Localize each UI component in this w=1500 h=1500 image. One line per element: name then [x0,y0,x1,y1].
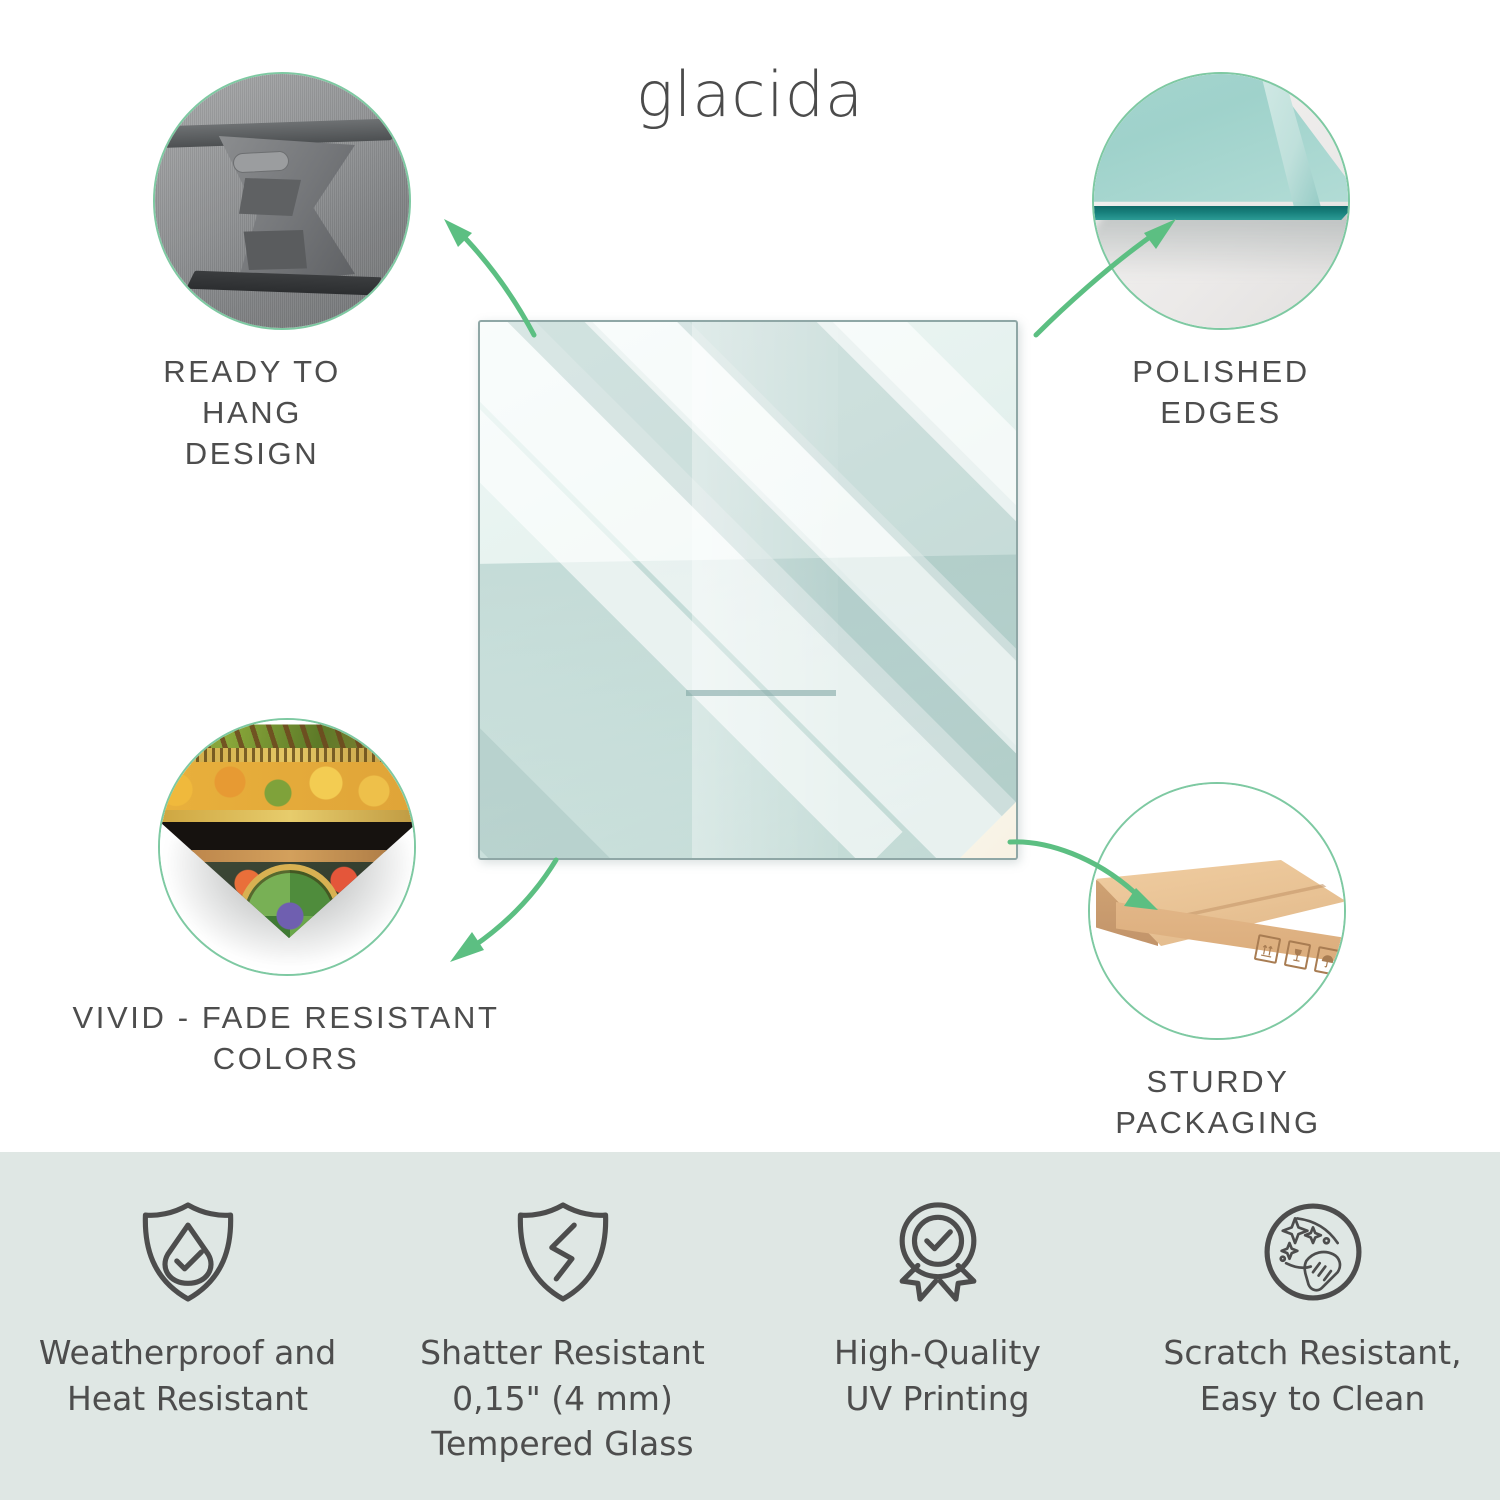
arrow-to-sturdy-packaging [1000,810,1180,940]
product-infographic: glacida READY TO HANG DESIGN POLISHED [0,0,1500,1500]
feature-label-polished-edges: POLISHED EDGES [1092,352,1350,434]
bar-label-shatter-resistant: Shatter Resistant 0,15" (4 mm) Tempered … [420,1330,705,1467]
bracket-slot [233,151,290,174]
artwork-background [160,720,414,974]
arrow-to-ready-to-hang [430,205,610,350]
bar-label-scratch-resistant: Scratch Resistant, Easy to Clean [1163,1330,1461,1421]
feature-label-vivid-colors: VIVID - FADE RESISTANT COLORS [66,998,506,1080]
bar-item-uv-printing: High-Quality UV Printing [768,1196,1108,1421]
arrow-to-polished-edges [1020,205,1200,350]
hanging-bracket-photo [153,72,411,330]
arrow-to-vivid-colors [438,850,618,980]
art-band-foliage-lines [160,718,416,752]
bracket-cutout-lower [241,230,307,270]
bar-label-weatherproof: Weatherproof and Heat Resistant [39,1330,336,1421]
feature-ready-to-hang: READY TO HANG DESIGN [153,72,411,475]
glass-frame-reflection [686,690,836,696]
this-way-up-icon [1254,934,1282,964]
art-band-amber-stones [160,762,416,812]
bar-item-shatter-resistant: Shatter Resistant 0,15" (4 mm) Tempered … [393,1196,733,1467]
art-band-black [160,822,416,852]
feature-bar: Weatherproof and Heat Resistant Shatter … [0,1152,1500,1500]
bar-item-scratch-resistant: Scratch Resistant, Easy to Clean [1143,1196,1483,1421]
shield-lightning-bolt-icon [507,1196,619,1308]
glass-vertical-reflection [692,322,838,858]
bracket-background [155,74,409,328]
keep-dry-umbrella-icon [1314,946,1342,976]
tempered-glass-panel [478,320,1018,860]
shield-water-drop-check-icon [132,1196,244,1308]
award-medal-check-icon [882,1196,994,1308]
bracket-cutout-upper [239,178,301,216]
fragile-glass-icon [1284,940,1312,970]
bracket-base-plate [186,271,382,296]
feature-label-sturdy-packaging: STURDY PACKAGING [1068,1062,1368,1144]
bar-item-weatherproof: Weatherproof and Heat Resistant [18,1196,358,1421]
feature-label-ready-to-hang: READY TO HANG DESIGN [123,352,381,475]
sparkle-cleaning-hand-icon [1257,1196,1369,1308]
bar-label-uv-printing: High-Quality UV Printing [834,1330,1041,1421]
stained-glass-artwork-photo [158,718,416,976]
